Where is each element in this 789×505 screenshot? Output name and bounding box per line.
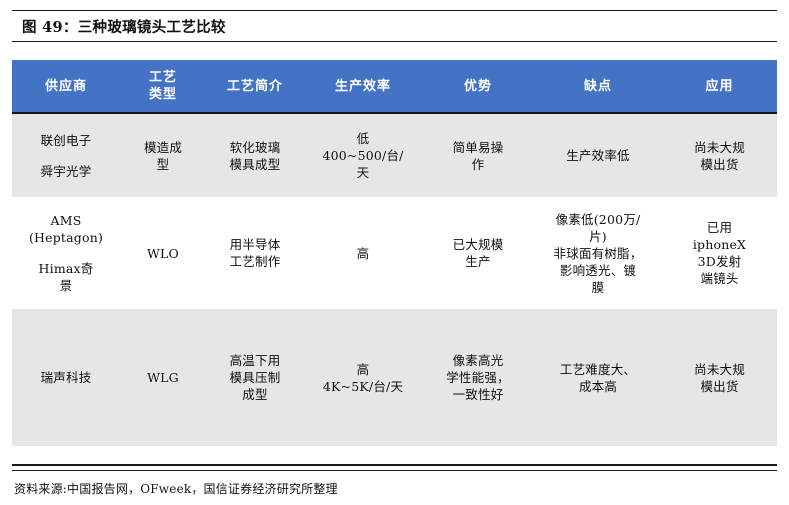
column-header-process-type-label-line1: 工艺: [123, 69, 203, 86]
cell-efficiency: 高 4K~5K/台/天: [304, 309, 422, 446]
cell-drawback-line1: 工艺难度大、: [539, 361, 657, 378]
table-bottom-rule: [12, 464, 777, 466]
cell-supplier-line1: AMS: [17, 212, 115, 229]
cell-advantage: 像素高光 学性能强， 一致性好: [422, 309, 534, 446]
cell-process-type-line2: 型: [125, 156, 201, 173]
column-header-supplier-label: 供应商: [45, 79, 87, 94]
cell-efficiency-line2: 4K~5K/台/天: [309, 378, 417, 395]
cell-advantage-line1: 已大规模: [427, 236, 529, 253]
cell-efficiency-line1: 高: [309, 361, 417, 378]
cell-supplier-line1: 瑞声科技: [17, 369, 115, 386]
column-header-advantage-label: 优势: [464, 79, 492, 94]
cell-drawback-line1: 生产效率低: [539, 147, 657, 164]
cell-process-intro-line1: 软化玻璃: [211, 139, 299, 156]
comparison-table: 供应商 工艺 类型 工艺简介 生产效率 优势: [12, 60, 777, 446]
cell-drawback-line2: 片): [539, 228, 657, 245]
cell-process-intro: 软化玻璃 模具成型: [206, 113, 304, 197]
source-note: 资料来源:中国报告网，OFweek，国信证券经济研究所整理: [14, 480, 338, 497]
cell-drawback: 像素低(200万/ 片) 非球面有树脂， 影响透光、镀 膜: [534, 197, 662, 309]
column-header-advantage: 优势: [422, 60, 534, 113]
cell-supplier-line3: Himax奇: [17, 260, 115, 277]
cell-drawback: 生产效率低: [534, 113, 662, 197]
cell-supplier: 瑞声科技: [12, 309, 120, 446]
cell-advantage-line2: 生产: [427, 253, 529, 270]
cell-advantage: 已大规模 生产: [422, 197, 534, 309]
figure-page: 图 49：三种玻璃镜头工艺比较 供应商: [0, 0, 789, 505]
cell-process-type-line1: WLG: [125, 369, 201, 386]
cell-drawback: 工艺难度大、 成本高: [534, 309, 662, 446]
footer-rule: [12, 470, 777, 471]
column-header-supplier: 供应商: [12, 60, 120, 113]
column-header-application-label: 应用: [705, 79, 733, 94]
cell-process-intro-line1: 高温下用: [211, 352, 299, 369]
cell-efficiency: 高: [304, 197, 422, 309]
cell-application-line1: 已用: [667, 219, 772, 236]
cell-process-intro-line1: 用半导体: [211, 236, 299, 253]
cell-process-type-line1: 模造成: [125, 139, 201, 156]
cell-spacer: [17, 149, 115, 163]
cell-process-intro-line2: 模具成型: [211, 156, 299, 173]
column-header-efficiency-label: 生产效率: [335, 79, 391, 94]
cell-drawback-line1: 像素低(200万/: [539, 211, 657, 228]
cell-efficiency-line1: 低: [309, 130, 417, 147]
cell-advantage-line1: 像素高光: [427, 352, 529, 369]
cell-drawback-line3: 非球面有树脂，: [539, 245, 657, 262]
cell-process-type: WLO: [120, 197, 206, 309]
cell-efficiency: 低 400~500/台/ 天: [304, 113, 422, 197]
cell-application-line4: 端镜头: [667, 270, 772, 287]
cell-efficiency-line2: 400~500/台/: [309, 147, 417, 164]
figure-title-bar: 图 49：三种玻璃镜头工艺比较: [12, 10, 777, 42]
cell-process-type: WLG: [120, 309, 206, 446]
cell-spacer: [17, 246, 115, 260]
cell-process-intro-line3: 成型: [211, 386, 299, 403]
cell-efficiency-line1: 高: [309, 245, 417, 262]
cell-advantage-line3: 一致性好: [427, 386, 529, 403]
cell-application-line1: 尚未大规: [667, 139, 772, 156]
column-header-process-type: 工艺 类型: [120, 60, 206, 113]
cell-supplier: 联创电子 舜宇光学: [12, 113, 120, 197]
cell-advantage-line2: 学性能强，: [427, 369, 529, 386]
cell-application: 已用 iphoneX 3D发射 端镜头: [662, 197, 777, 309]
cell-process-intro-line2: 工艺制作: [211, 253, 299, 270]
comparison-table-wrapper: 供应商 工艺 类型 工艺简介 生产效率 优势: [12, 60, 777, 446]
cell-drawback-line2: 成本高: [539, 378, 657, 395]
cell-application-line2: 模出货: [667, 156, 772, 173]
column-header-application: 应用: [662, 60, 777, 113]
column-header-process-intro-label: 工艺简介: [227, 79, 283, 94]
column-header-drawback: 缺点: [534, 60, 662, 113]
table-header: 供应商 工艺 类型 工艺简介 生产效率 优势: [12, 60, 777, 113]
cell-drawback-line5: 膜: [539, 279, 657, 296]
cell-process-intro-line2: 模具压制: [211, 369, 299, 386]
table-body: 联创电子 舜宇光学 模造成 型 软化玻璃: [12, 113, 777, 446]
cell-efficiency-line3: 天: [309, 164, 417, 181]
column-header-efficiency: 生产效率: [304, 60, 422, 113]
cell-application-line2: 模出货: [667, 378, 772, 395]
cell-supplier-line1: 联创电子: [17, 132, 115, 149]
column-header-process-intro: 工艺简介: [206, 60, 304, 113]
cell-application-line3: 3D发射: [667, 253, 772, 270]
page-title: 图 49：三种玻璃镜头工艺比较: [22, 16, 226, 37]
cell-application-line2: iphoneX: [667, 236, 772, 253]
cell-application-line1: 尚未大规: [667, 361, 772, 378]
table-row: AMS (Heptagon) Himax奇 景 WLO: [12, 197, 777, 309]
cell-advantage-line2: 作: [427, 156, 529, 173]
cell-process-intro: 高温下用 模具压制 成型: [206, 309, 304, 446]
table-row: 瑞声科技 WLG 高温下用 模具压制 成型: [12, 309, 777, 446]
cell-supplier: AMS (Heptagon) Himax奇 景: [12, 197, 120, 309]
cell-application: 尚未大规 模出货: [662, 113, 777, 197]
cell-process-type-line1: WLO: [125, 245, 201, 262]
cell-process-type: 模造成 型: [120, 113, 206, 197]
cell-drawback-line4: 影响透光、镀: [539, 262, 657, 279]
cell-process-intro: 用半导体 工艺制作: [206, 197, 304, 309]
cell-supplier-line4: 景: [17, 277, 115, 294]
table-header-row: 供应商 工艺 类型 工艺简介 生产效率 优势: [12, 60, 777, 113]
table-row: 联创电子 舜宇光学 模造成 型 软化玻璃: [12, 113, 777, 197]
column-header-process-type-label-line2: 类型: [123, 86, 203, 103]
cell-application: 尚未大规 模出货: [662, 309, 777, 446]
column-header-drawback-label: 缺点: [584, 79, 612, 94]
cell-supplier-line2: 舜宇光学: [17, 163, 115, 180]
cell-advantage-line1: 简单易操: [427, 139, 529, 156]
cell-supplier-line2: (Heptagon): [17, 229, 115, 246]
cell-advantage: 简单易操 作: [422, 113, 534, 197]
